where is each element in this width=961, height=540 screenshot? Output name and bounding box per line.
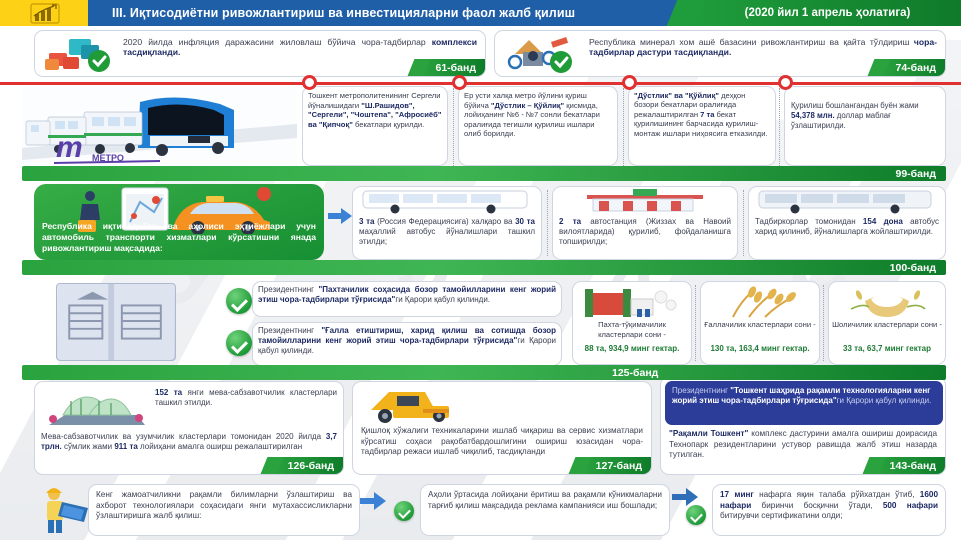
wheat-icon [719, 285, 803, 319]
card-fruit-clusters[interactable]: 152 та янги мева-сабзавотчилик кластерла… [34, 381, 344, 475]
band-tag-126[interactable]: 126-банд [272, 457, 343, 474]
card-metro-dustlik[interactable]: "Дўстлик" ва "Қўйлиқ" деҳқон бозори бека… [628, 86, 776, 166]
arrow-right-icon-3 [672, 488, 698, 506]
bus-routes-b1: 3 та [359, 217, 374, 226]
students-b1: 17 минг [720, 490, 754, 499]
card-students-text: 17 минг нафарга яқин талаба рўйхатдан ўт… [713, 485, 945, 527]
card-cluster-grain[interactable]: Ғаллачилик кластерлари сони - 130 та, 16… [700, 281, 820, 365]
bus-purchase-b1: 154 дона [863, 217, 903, 226]
metro-dustlik-a: "Дўстлик" ва "Қўйлиқ" [634, 91, 719, 100]
card-decree-grain[interactable]: Президентнинг "Ғалла етиштириш, харид қи… [252, 322, 562, 366]
fruit-bot-b2: 911 та [114, 442, 138, 451]
metro-funding-a: Қурилиш бошлангандан буён жами [791, 101, 919, 110]
band-strip-125[interactable]: 125-банд [22, 365, 946, 380]
students-t2: биринчи босқични ўтади, [751, 501, 883, 510]
panel-auto-transport[interactable]: Республика иқтисодиёти ва аҳолиси эҳтиёж… [34, 184, 324, 260]
cluster-rice-value: 33 та, 63,7 минг гектар [832, 344, 942, 354]
worker-laptop-icon [34, 486, 92, 534]
card-metro-sergeli[interactable]: Тошкент метрополитенининг Сергели йўнали… [302, 86, 448, 166]
check-icon-grain [226, 330, 252, 356]
timeline-pin-1 [302, 75, 317, 90]
blue-book-icon [56, 283, 176, 361]
bus-purchase-t0: Тадбиркорлар томонидан [755, 217, 863, 226]
bus-stations-t1: автостанция (Жиззах ва Навоий вилоятлари… [559, 217, 731, 246]
band-label-99: 99-банд [895, 166, 936, 181]
card-digital-tashkent[interactable]: Президентнинг "Тошкент шаҳрида рақамли т… [660, 376, 946, 475]
card-metro-dustlik-text: "Дўстлик" ва "Қўйлиқ" деҳқон бозори бека… [629, 87, 775, 142]
band-tag-61[interactable]: 61-банд [419, 59, 485, 76]
cotton-gin-icon [585, 285, 681, 319]
fruit-bot-3: лойиҳани амалга оширш режалаштирилган [138, 442, 302, 451]
check-icon-cotton [226, 288, 252, 314]
card-bus-purchase-text: Тадбиркорлар томонидан 154 дона автобус … [755, 217, 939, 237]
card-agro-machinery-text: Қишлоқ хўжалиги техникаларини ишлаб чиқа… [361, 426, 643, 458]
card-fruit-bottom-text: Мева-сабзавотчилик ва узумчилик кластерл… [41, 432, 337, 452]
decree-cotton-post: ги Қарори қабул қилинди. [395, 295, 490, 304]
card-digital-literacy[interactable]: Кенг жамоатчиликни рақамли билимларни ўз… [88, 484, 360, 536]
cluster-grain-title: Ғаллачилик кластерлари сони - [704, 320, 816, 330]
digital-decree-post: ги Қарори қабул қилинди. [837, 396, 932, 405]
bus-grey-icon [755, 189, 941, 215]
cluster-rice-title: Шоличилик кластерлари сони - [832, 320, 942, 330]
divider-4 [547, 190, 548, 256]
cluster-cotton-value: 88 та, 934,9 минг гектар. [576, 344, 688, 354]
band-strip-100[interactable]: 100-банд [22, 260, 946, 275]
infographic-page: Ў З А С III. Иқтисодиётни ривожлантириш … [0, 0, 961, 540]
card-bus-stations[interactable]: 2 та автостанция (Жиззах ва Навоий вилоя… [552, 186, 738, 260]
greenhouse-icon [41, 385, 153, 433]
fruit-top-t: янги мева-сабзавотчилик кластерлари ташк… [155, 388, 337, 407]
divider-1 [453, 88, 454, 166]
tractor-icon [363, 384, 467, 424]
card-inflation[interactable]: 2020 йилда инфляция даражасини жиловлаш … [34, 30, 486, 77]
decree-digital-tashkent[interactable]: Президентнинг "Тошкент шаҳрида рақамли т… [665, 381, 943, 425]
arrow-right-icon-1 [328, 208, 352, 224]
check-icon-campaign [394, 501, 414, 521]
status-date-badge: (2020 йил 1 апрель ҳолатига) [700, 0, 955, 26]
divider-3 [779, 88, 780, 166]
card-students[interactable]: 17 минг нафарга яқин талаба рўйхатдан ўт… [712, 484, 946, 536]
divider-2 [623, 88, 624, 166]
decree-grain-pre: Президентнинг [258, 326, 321, 335]
check-icon-students [686, 505, 706, 525]
card-digital-note: "Рақамли Тошкент" комплекс дастурини ама… [669, 429, 937, 461]
card-digital-literacy-text: Кенг жамоатчиликни рақамли билимларни ўз… [89, 485, 359, 527]
students-t3: битирувчи сертификатини олди; [720, 511, 843, 520]
card-fruit-top-text: 152 та янги мева-сабзавотчилик кластерла… [155, 388, 337, 408]
card-metro-sergeli-text: Тошкент метрополитенининг Сергели йўнали… [303, 87, 447, 133]
bar-chart-icon [28, 2, 62, 24]
arrow-right-icon-2 [360, 492, 386, 510]
card-ad-campaign[interactable]: Аҳоли ўртасида лойиҳани ёритиш ва рақамл… [420, 484, 670, 536]
cluster-cotton-title: Пахта-тўқимачилик кластерлари сони - [576, 320, 688, 339]
students-t1: нафарга яқин талаба рўйхатдан ўтиб, [754, 490, 920, 499]
card-mineral-text: Республика минерал хом ашё базасини риво… [589, 37, 937, 58]
card-bus-stations-text: 2 та автостанция (Жиззах ва Навоий вилоя… [559, 217, 731, 247]
card-bus-purchase[interactable]: Тадбиркорлар томонидан 154 дона автобус … [748, 186, 946, 260]
page-header: III. Иқтисодиётни ривожлантириш ва инвес… [0, 0, 961, 26]
bus-routes-t2: маҳаллий автобус йўналишлари ташкил этил… [359, 227, 535, 246]
digital-decree-pre: Президентнинг [672, 386, 730, 395]
timeline-pin-2 [452, 75, 467, 90]
card-inflation-text-a: 2020 йилда инфляция даражасини жиловлаш … [123, 37, 432, 47]
band-tag-143[interactable]: 143-банд [874, 457, 945, 474]
band-tag-74[interactable]: 74-банд [879, 59, 945, 76]
card-mineral-base[interactable]: Республика минерал хом ашё базасини риво… [494, 30, 946, 77]
timeline-red-line [0, 82, 961, 85]
divider-6 [695, 285, 696, 361]
mining-check-icon [503, 34, 581, 76]
card-metro-funding-text: Қурилиш бошлангандан буён жами 54,378 мл… [785, 87, 945, 144]
boxes-check-icon [43, 35, 117, 75]
card-cluster-cotton[interactable]: Пахта-тўқимачилик кластерлари сони - 88 … [572, 281, 692, 365]
card-bus-routes[interactable]: 3 та (Россия Федерациясига) халқаро ва 3… [352, 186, 542, 260]
band-label-125: 125-банд [612, 365, 658, 380]
band-strip-99[interactable]: 99-банд [22, 166, 946, 181]
card-decree-grain-text: Президентнинг "Ғалла етиштириш, харид қи… [253, 323, 561, 359]
card-ad-campaign-text: Аҳоли ўртасида лойиҳани ёритиш ва рақамл… [421, 485, 669, 516]
decree-cotton-pre: Президентнинг [258, 285, 318, 294]
fruit-bot-2: сўмлик жами [62, 442, 115, 451]
digital-note-bold: "Рақамли Тошкент" [669, 429, 748, 438]
bus-station-icon [583, 189, 707, 215]
card-mineral-text-a: Республика минерал хом ашё базасини риво… [589, 37, 914, 47]
students-b3: 500 нафари [883, 501, 938, 510]
card-agro-machinery[interactable]: Қишлоқ хўжалиги техникаларини ишлаб чиқа… [352, 381, 652, 475]
divider-7 [823, 285, 824, 361]
panel-auto-transport-text: Республика иқтисодиёти ва аҳолиси эҳтиёж… [42, 221, 316, 254]
card-metro-ring-text: Ер усти халқа метро йўлини қуриш бўйича … [459, 87, 617, 143]
timeline-pin-3 [622, 75, 637, 90]
divider-5 [743, 190, 744, 256]
fruit-bot-1: Мева-сабзавотчилик ва узумчилик кластерл… [41, 432, 326, 441]
metro-funding-b: 54,378 млн. [791, 111, 835, 120]
cluster-grain-value: 130 та, 163,4 минг гектар. [704, 344, 816, 354]
metro-logo: m МЕТРО [52, 130, 164, 166]
metro-dustlik-c: 7 та [700, 110, 714, 119]
card-bus-routes-text: 3 та (Россия Федерациясига) халқаро ва 3… [359, 217, 535, 247]
band-tag-127[interactable]: 127-банд [580, 457, 651, 474]
card-metro-funding[interactable]: Қурилиш бошлангандан буён жами 54,378 мл… [784, 86, 946, 166]
metro-sergeli-c: бекатлари қурилди. [353, 120, 424, 129]
timeline-pin-4 [778, 75, 793, 90]
bus-routes-b2: 30 та [515, 217, 535, 226]
bus-routes-t1: (Россия Федерациясига) халқаро ва [374, 217, 515, 226]
bus-white-icon [359, 189, 537, 215]
metro-ring-b: "Дўстлик – Қўйлиқ" [491, 101, 564, 110]
card-inflation-text: 2020 йилда инфляция даражасини жиловлаш … [123, 37, 477, 58]
card-decree-cotton[interactable]: Президентнинг "Пахтачилик соҳасида бозор… [252, 281, 562, 317]
rice-bowl-icon [845, 285, 931, 319]
bus-stations-b1: 2 та [559, 217, 581, 226]
fruit-top-b: 152 та [155, 388, 182, 397]
svg-text:m: m [56, 131, 83, 164]
card-decree-cotton-text: Президентнинг "Пахтачилик соҳасида бозор… [253, 282, 561, 308]
page-title: III. Иқтисодиётни ривожлантириш ва инвес… [112, 0, 692, 26]
card-metro-ring[interactable]: Ер усти халқа метро йўлини қуриш бўйича … [458, 86, 618, 166]
band-label-100: 100-банд [890, 260, 936, 275]
card-cluster-rice[interactable]: Шоличилик кластерлари сони - 33 та, 63,7… [828, 281, 946, 365]
